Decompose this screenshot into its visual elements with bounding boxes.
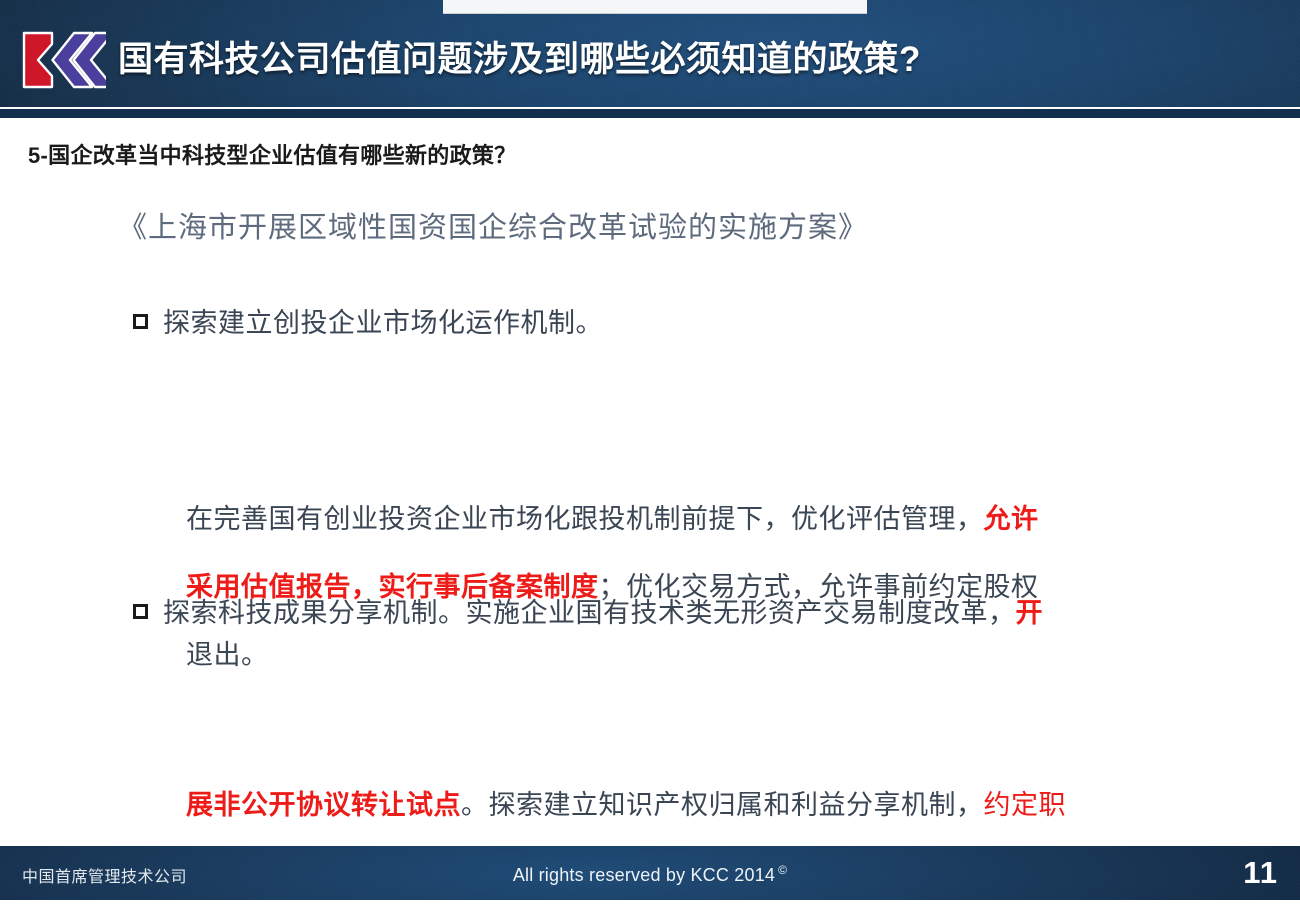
document-title: 《上海市开展区域性国资国企综合改革试验的实施方案》 [118,204,868,246]
paragraph-4-highlight-2: 约定职 [984,790,1067,820]
bullet-item-2-segment-1: 探索科技成果分享机制。实施企业国有技术类无形资产交易制度改革， [163,598,1016,628]
paragraph-1-segment-1: 在完善国有创业投资企业市场化跟投机制前提下，优化评估管理， [186,504,984,534]
paragraph-4: 展非公开协议转让试点。探索建立知识产权归属和利益分享机制，约定职 [186,771,1066,839]
slide-body: 5-国企改革当中科技型企业估值有哪些新的政策？ 《上海市开展区域性国资国企综合改… [0,116,1300,843]
slide: 国有科技公司估值问题涉及到哪些必须知道的政策? 5-国企改革当中科技型企业估值有… [0,0,1300,900]
copyright-symbol-icon: © [778,863,787,877]
bullet-item-1: 探索建立创投企业市场化运作机制。 [133,303,603,343]
kcc-logo-icon [22,31,106,89]
top-white-accent-bar [443,0,867,14]
slide-footer: 中国首席管理技术公司 All rights reserved by KCC 20… [0,843,1300,900]
header-divider-rule [0,107,1300,118]
square-bullet-icon [133,604,148,619]
bullet-item-2-highlight-1: 开 [1016,598,1044,628]
footer-copyright: All rights reserved by KCC 2014© [0,863,1300,886]
paragraph-4-highlight-1: 展非公开协议转让试点 [186,790,461,820]
paragraph-1: 在完善国有创业投资企业市场化跟投机制前提下，优化评估管理，允许 [186,485,1039,553]
paragraph-3-segment-1: 退出。 [186,640,269,670]
slide-title: 国有科技公司估值问题涉及到哪些必须知道的政策? [118,36,921,84]
section-heading: 5-国企改革当中科技型企业估值有哪些新的政策？ [28,138,516,170]
paragraph-1-highlight-1: 允许 [984,504,1039,534]
page-number: 11 [1243,855,1278,891]
footer-copyright-text: All rights reserved by KCC 2014 [513,865,775,885]
bullet-item-1-text: 探索建立创投企业市场化运作机制。 [163,303,603,343]
paragraph-4-segment-1: 。探索建立知识产权归属和利益分享机制， [461,790,984,820]
bullet-item-2: 探索科技成果分享机制。实施企业国有技术类无形资产交易制度改革，开 [133,593,1043,633]
square-bullet-icon [133,314,148,329]
bullet-item-2-text: 探索科技成果分享机制。实施企业国有技术类无形资产交易制度改革，开 [163,593,1043,633]
